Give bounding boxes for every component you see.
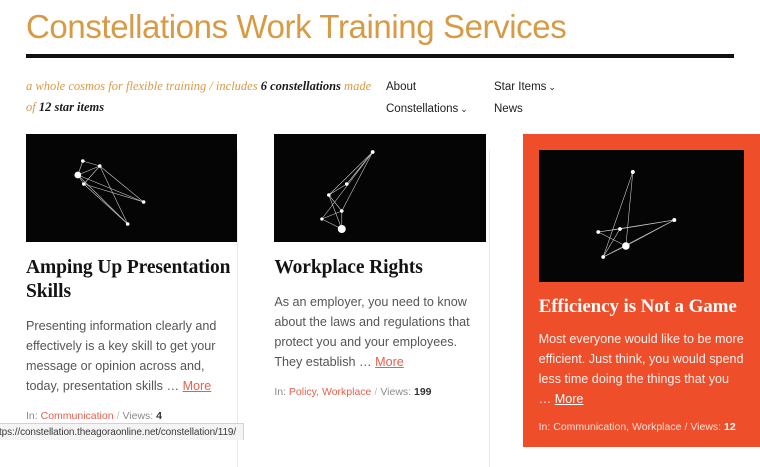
constellation-card-highlighted[interactable]: Efficiency is Not a Game Most everyone w… — [523, 134, 760, 447]
constellation-card-grid: Amping Up Presentation Skills Presenting… — [0, 134, 760, 447]
card-in-label: In: — [539, 421, 551, 433]
card-excerpt: Most everyone would like to be more effi… — [539, 329, 744, 409]
footer-separator: / — [371, 386, 380, 398]
constellation-thumbnail[interactable] — [539, 150, 744, 282]
nav-item-constellations-label: Constellations — [386, 103, 458, 115]
constellation-star-map — [26, 134, 237, 242]
chevron-down-icon: ⌄ — [460, 104, 468, 114]
nav-item-news-label: News — [494, 103, 523, 115]
card-views-count: 12 — [724, 421, 736, 433]
card-footer: In: Policy, Workplace/Views: 199 — [274, 386, 485, 398]
card-views-label: Views: — [690, 421, 721, 433]
card-footer: In: Communication, Workplace/Views: 12 — [539, 421, 744, 433]
constellation-thumbnail[interactable] — [26, 134, 237, 242]
card-views-count: 4 — [156, 410, 162, 422]
site-header: Constellations Work Training Services — [0, 0, 760, 48]
constellation-thumbnail[interactable] — [274, 134, 485, 242]
more-link[interactable]: More — [183, 379, 212, 393]
card-excerpt-text: As an employer, you need to know about t… — [274, 295, 469, 369]
constellation-star-map — [539, 150, 744, 282]
card-title[interactable]: Efficiency is Not a Game — [539, 295, 744, 319]
main-navigation: About Constellations⌄ Star Items⌄ News — [386, 76, 614, 120]
nav-item-constellations[interactable]: Constellations⌄ — [386, 98, 494, 120]
card-in-label: In: — [26, 410, 38, 422]
nav-column-2: Star Items⌄ News — [494, 76, 614, 120]
constellation-card[interactable]: Amping Up Presentation Skills Presenting… — [26, 134, 261, 447]
tagline-star-items-count: 12 star items — [39, 100, 104, 114]
card-views-label: Views: — [122, 410, 153, 422]
nav-item-about[interactable]: About — [386, 76, 494, 98]
nav-column-1: About Constellations⌄ — [386, 76, 494, 120]
browser-status-bar: tps://constellation.theagoraonline.net/c… — [0, 423, 244, 440]
card-views-count: 199 — [414, 386, 432, 398]
more-link[interactable]: More — [555, 392, 584, 406]
card-footer: In: Communication/Views: 4 — [26, 410, 237, 422]
more-link[interactable]: More — [375, 355, 404, 369]
constellation-card[interactable]: Workplace Rights As an employer, you nee… — [274, 134, 509, 447]
nav-item-star-items-label: Star Items — [494, 81, 546, 93]
meta-row: a whole cosmos for flexible training / i… — [0, 58, 760, 120]
card-categories[interactable]: Communication, Workplace — [553, 421, 681, 433]
chevron-down-icon: ⌄ — [548, 82, 556, 92]
constellation-star-map — [274, 134, 485, 242]
nav-item-about-label: About — [386, 81, 416, 93]
tagline-constellations-count: 6 constellations — [261, 79, 341, 93]
card-title[interactable]: Amping Up Presentation Skills — [26, 256, 237, 304]
card-title[interactable]: Workplace Rights — [274, 256, 485, 280]
status-bar-url: tps://constellation.theagoraonline.net/c… — [0, 427, 236, 438]
card-in-label: In: — [274, 386, 286, 398]
card-excerpt: As an employer, you need to know about t… — [274, 292, 485, 372]
card-views-label: Views: — [380, 386, 411, 398]
card-categories[interactable]: Communication — [41, 410, 114, 422]
nav-item-news[interactable]: News — [494, 98, 614, 120]
card-categories[interactable]: Policy, Workplace — [289, 386, 371, 398]
site-tagline: a whole cosmos for flexible training / i… — [26, 76, 376, 118]
nav-item-star-items[interactable]: Star Items⌄ — [494, 76, 614, 98]
card-excerpt: Presenting information clearly and effec… — [26, 316, 237, 396]
tagline-part-1: a whole cosmos for flexible training / i… — [26, 79, 261, 93]
page-title: Constellations Work Training Services — [26, 6, 734, 48]
